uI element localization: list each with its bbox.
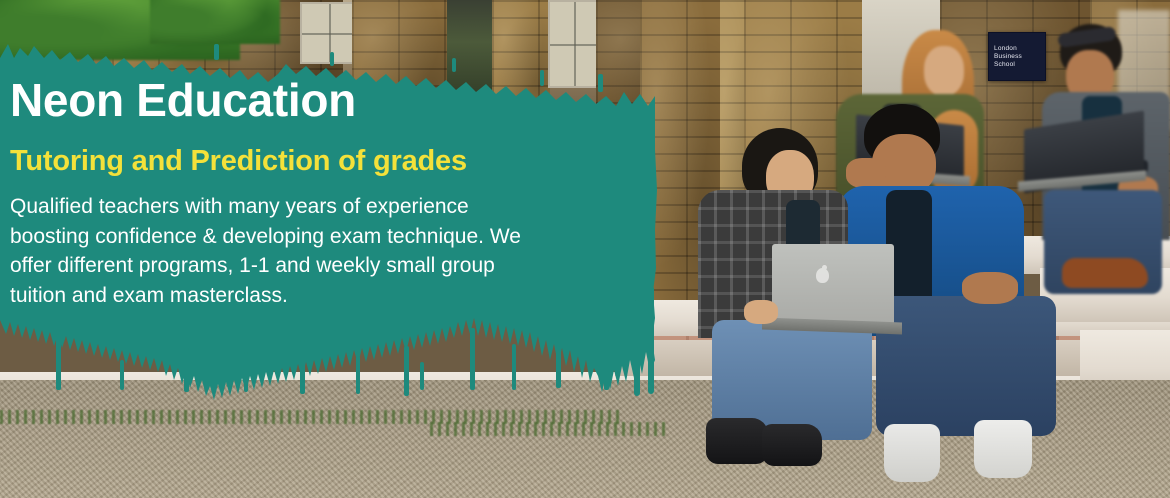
hero-body-line-2: boosting confidence & developing exam te… bbox=[10, 222, 610, 252]
page-title: Neon Education bbox=[10, 74, 610, 126]
hero-body-line-4: tuition and exam masterclass. bbox=[10, 281, 610, 311]
hero-banner: London Business School bbox=[0, 0, 1170, 498]
hero-body-line-3: offer different programs, 1-1 and weekly… bbox=[10, 251, 610, 281]
hero-subheadline: Tutoring and Prediction of grades bbox=[10, 144, 610, 178]
hero-copy: Neon Education Tutoring and Prediction o… bbox=[10, 74, 610, 310]
hero-body-line-1: Qualified teachers with many years of ex… bbox=[10, 192, 610, 222]
